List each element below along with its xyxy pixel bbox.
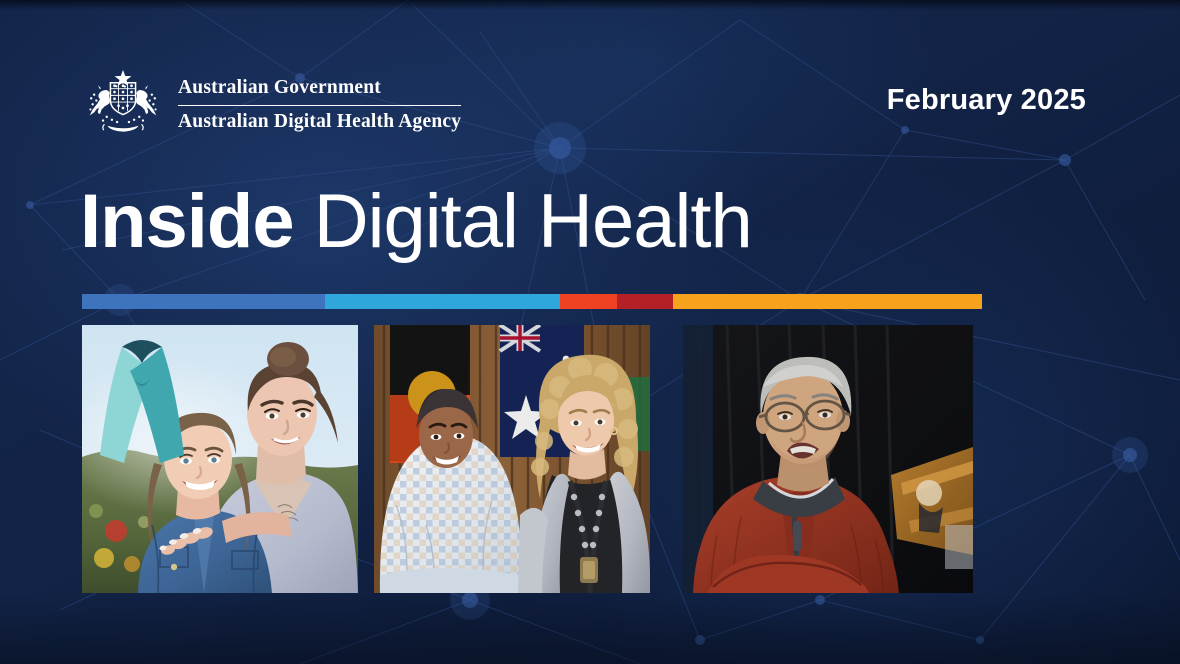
photo-older-man-red-jacket: [683, 325, 973, 593]
brand-colour-rule: [82, 294, 982, 309]
photo-mother-and-daughter: [82, 325, 358, 593]
newsletter-banner: Australian Government Australian Digital…: [0, 0, 1180, 664]
rule-segment-cyan: [325, 294, 560, 309]
banner-content: Australian Government Australian Digital…: [0, 0, 1180, 664]
photo-strip: [82, 325, 982, 593]
australian-government-text: Australian Government: [178, 76, 461, 100]
rule-segment-amber: [673, 294, 982, 309]
issue-date: February 2025: [887, 84, 1086, 117]
agency-name-text: Australian Digital Health Agency: [178, 110, 461, 134]
rule-segment-orange-red: [560, 294, 617, 309]
page-title: Inside Digital Health: [80, 184, 752, 260]
government-wordmark: Australian Government Australian Digital…: [178, 76, 461, 134]
photo-two-women-with-flags: [374, 325, 650, 593]
australian-commonwealth-coat-of-arms-icon: [82, 68, 164, 142]
government-logo-lockup: Australian Government Australian Digital…: [82, 68, 461, 142]
rule-segment-blue: [82, 294, 325, 309]
rule-segment-dark-red: [617, 294, 673, 309]
wordmark-divider: [178, 105, 461, 106]
title-words-digital-health: Digital Health: [314, 179, 752, 264]
title-word-inside: Inside: [80, 179, 294, 264]
